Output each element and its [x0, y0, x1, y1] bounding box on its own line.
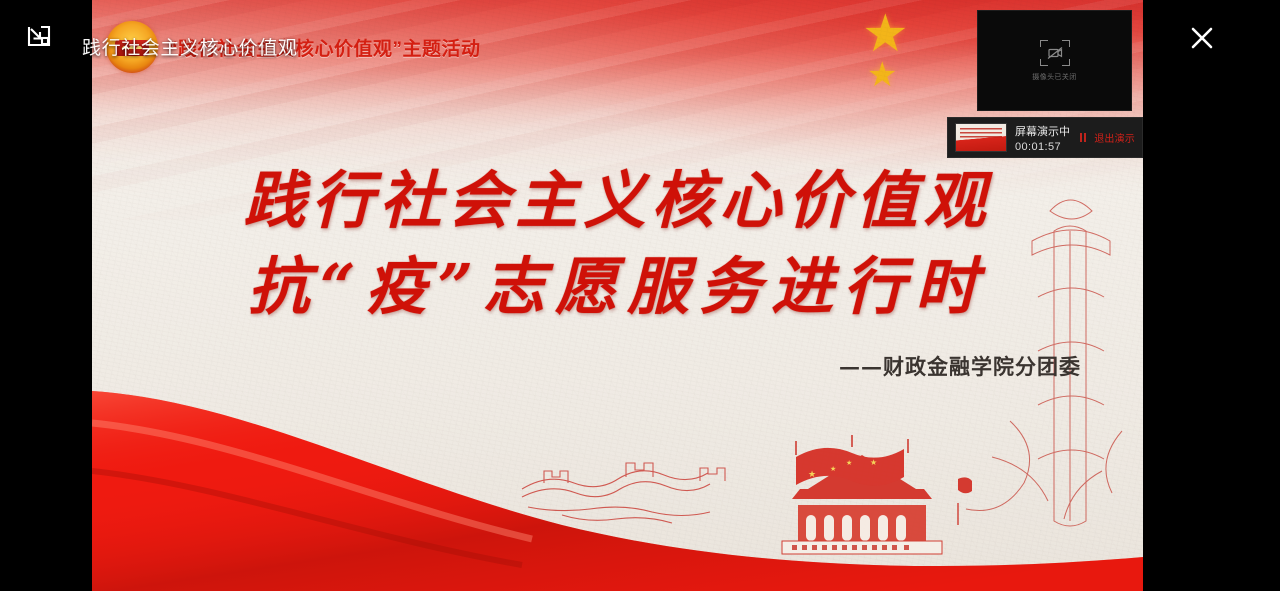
slide-title-line-2: 抗“疫”志愿服务进行时: [92, 244, 1143, 330]
camera-off-label: 摄像头已关闭: [1032, 72, 1076, 82]
slide-title-line-1: 践行社会主义核心价值观: [92, 158, 1143, 244]
exit-presentation-button[interactable]: 退出演示: [1094, 130, 1135, 145]
svg-text:★: ★: [870, 458, 877, 467]
pause-icon[interactable]: [1076, 132, 1089, 143]
slide-attribution: ——财政金融学院分团委: [92, 351, 1143, 381]
svg-text:★: ★: [808, 469, 816, 479]
share-status-label: 屏幕演示中: [1015, 123, 1068, 139]
tiananmen-illustration: ★ ★ ★ ★: [782, 435, 972, 554]
camera-off-icon: [1040, 40, 1070, 66]
share-actions: 退出演示: [1076, 130, 1135, 145]
meeting-title: 践行社会主义核心价值观: [82, 33, 298, 60]
shared-screen-thumbnail[interactable]: [955, 123, 1007, 152]
share-timer: 00:01:57: [1015, 141, 1068, 153]
close-icon[interactable]: [1182, 18, 1222, 58]
slide-artwork: ★ ★ ★ ★: [92, 361, 1143, 591]
slide-title-block: 践行社会主义核心价值观 抗“疫”志愿服务进行时 ——财政金融学院分团委: [92, 158, 1143, 381]
self-view-video-tile[interactable]: 摄像头已关闭: [977, 10, 1132, 111]
screen-share-status-bar[interactable]: 屏幕演示中 00:01:57 退出演示: [947, 117, 1143, 158]
share-status-texts: 屏幕演示中 00:01:57: [1015, 123, 1068, 153]
svg-text:★: ★: [830, 465, 836, 473]
svg-text:★: ★: [846, 459, 852, 467]
great-wall-illustration: [522, 463, 725, 523]
picture-in-picture-icon[interactable]: [22, 22, 56, 52]
